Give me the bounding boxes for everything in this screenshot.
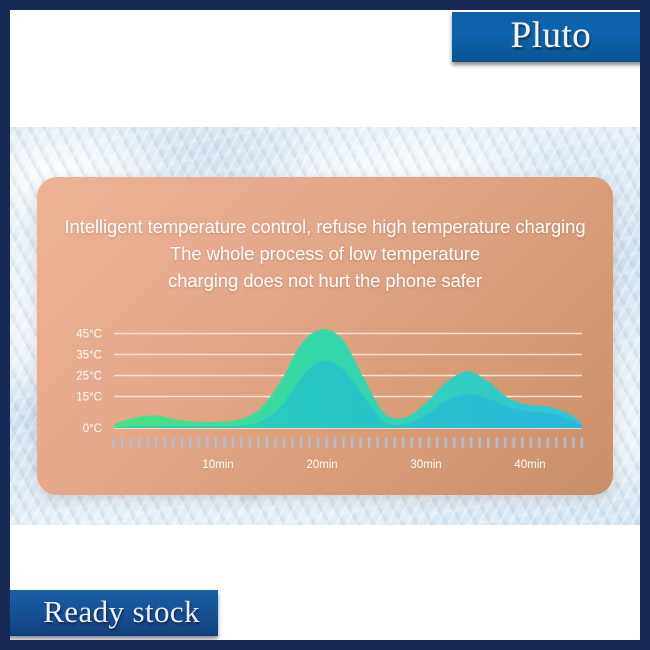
axis-tick-mark (291, 437, 294, 448)
axis-tick-mark (317, 437, 320, 448)
x-axis-tick-label: 20min (306, 459, 337, 471)
axis-tick-mark (266, 437, 269, 448)
axis-tick-mark (334, 437, 337, 448)
headline: Intelligent temperature control, refuse … (37, 213, 613, 294)
axis-tick-mark (368, 437, 371, 448)
axis-tick-mark (274, 437, 277, 448)
axis-tick-mark (130, 437, 133, 448)
axis-tick-mark (419, 437, 422, 448)
axis-tick-mark (513, 437, 516, 448)
axis-tick-mark (155, 437, 158, 448)
brand-banner-ready-stock[interactable]: Ready stock (10, 590, 218, 636)
axis-tick-mark (223, 437, 226, 448)
ice-background: Intelligent temperature control, refuse … (10, 127, 640, 525)
axis-tick-mark (181, 437, 184, 448)
axis-tick-mark (138, 437, 141, 448)
axis-tick-mark (249, 437, 252, 448)
axis-tick-mark (521, 437, 524, 448)
axis-tick-mark (172, 437, 175, 448)
axis-tick-mark (240, 437, 243, 448)
y-axis-tick-label: 25°C (76, 371, 102, 383)
x-axis-tick-label: 30min (410, 459, 441, 471)
axis-tick-mark (393, 437, 396, 448)
y-axis-tick-label: 45°C (76, 329, 102, 341)
axis-tick-mark (547, 437, 550, 448)
temperature-chart-svg: 0°C15°C25°C35°C45°C 10min20min30min40min (37, 305, 613, 495)
axis-tick-mark (232, 437, 235, 448)
axis-tick-mark (436, 437, 439, 448)
axis-tick-mark (444, 437, 447, 448)
axis-tick-mark (410, 437, 413, 448)
headline-line-3: charging does not hurt the phone safer (37, 267, 613, 294)
headline-line-1: Intelligent temperature control, refuse … (37, 213, 613, 240)
axis-tick-mark (164, 437, 167, 448)
axis-tick-mark (198, 437, 201, 448)
axis-tick-mark (189, 437, 192, 448)
axis-tick-mark (453, 437, 456, 448)
axis-tick-mark (257, 437, 260, 448)
axis-tick-mark (215, 437, 218, 448)
axis-tick-mark (113, 437, 116, 448)
headline-line-2: The whole process of low temperature (37, 240, 613, 267)
axis-tick-mark (351, 437, 354, 448)
axis-tick-mark (564, 437, 567, 448)
axis-tick-mark (325, 437, 328, 448)
brand-banner-pluto-label: Pluto (511, 17, 592, 57)
y-axis-tick-label: 35°C (76, 350, 102, 362)
axis-tick-mark (342, 437, 345, 448)
axis-tick-mark (300, 437, 303, 448)
axis-tick-mark (538, 437, 541, 448)
axis-tick-mark (487, 437, 490, 448)
brand-banner-ready-stock-label: Ready stock (43, 596, 218, 630)
axis-tick-mark (572, 437, 575, 448)
y-axis-tick-label: 0°C (83, 423, 102, 435)
axis-tick-mark (478, 437, 481, 448)
brand-banner-pluto[interactable]: Pluto (452, 12, 640, 62)
axis-tick-mark (530, 437, 533, 448)
axis-tick-mark (359, 437, 362, 448)
axis-tick-mark (385, 437, 388, 448)
page-root: Intelligent temperature control, refuse … (0, 0, 650, 650)
temperature-chart: 0°C15°C25°C35°C45°C 10min20min30min40min (37, 305, 613, 495)
axis-tick-mark (121, 437, 124, 448)
axis-tick-mark (402, 437, 405, 448)
axis-tick-mark (283, 437, 286, 448)
axis-tick-mark (496, 437, 499, 448)
x-axis-tick-label: 40min (514, 459, 545, 471)
axis-tick-mark (461, 437, 464, 448)
axis-tick-mark (470, 437, 473, 448)
axis-tick-mark (555, 437, 558, 448)
listing-canvas: Intelligent temperature control, refuse … (10, 10, 640, 640)
chart-x-axis-labels: 10min20min30min40min (202, 459, 545, 471)
axis-tick-mark (308, 437, 311, 448)
chart-axis-tick-band (113, 437, 584, 448)
feature-card: Intelligent temperature control, refuse … (37, 177, 613, 495)
axis-tick-mark (427, 437, 430, 448)
axis-tick-mark (581, 437, 584, 448)
axis-tick-mark (206, 437, 209, 448)
chart-y-axis-labels: 0°C15°C25°C35°C45°C (76, 329, 102, 436)
axis-tick-mark (376, 437, 379, 448)
y-axis-tick-label: 15°C (76, 392, 102, 404)
axis-tick-mark (147, 437, 150, 448)
axis-tick-mark (504, 437, 507, 448)
chart-series-layer (114, 329, 582, 428)
x-axis-tick-label: 10min (202, 459, 233, 471)
